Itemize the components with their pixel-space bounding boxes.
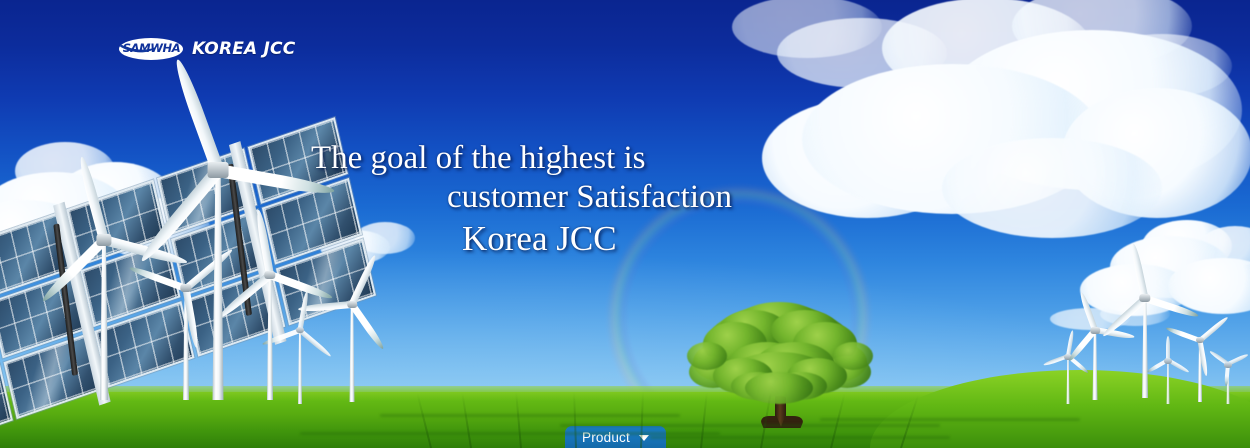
brand-name: KOREA JCC	[192, 39, 295, 59]
tree-canopy-cluster	[833, 342, 873, 370]
turbine-nacelle	[1139, 294, 1150, 302]
oak-tree	[697, 300, 862, 428]
field-streak	[380, 414, 680, 417]
turbine-blade	[1144, 295, 1199, 319]
turbine-tower	[350, 304, 355, 402]
wind-turbine	[100, 170, 336, 400]
turbine-tower	[213, 170, 224, 400]
turbine-blade	[1101, 295, 1147, 338]
brand-logo[interactable]: SAMWHA KOREA JCC	[119, 38, 295, 60]
logo-wordmark: SAMWHA	[122, 43, 180, 55]
samwha-ellipse-logo: SAMWHA	[119, 38, 183, 60]
turbine-tower	[1142, 298, 1148, 398]
field-streak	[820, 418, 1080, 421]
field-streak	[650, 436, 950, 439]
turbine-nacelle	[208, 162, 229, 177]
tree-canopy-cluster	[687, 342, 727, 370]
field-streak	[300, 432, 720, 435]
tree-canopy-cluster	[745, 372, 813, 404]
wind-turbine	[1089, 298, 1201, 398]
turbine-blade	[349, 302, 386, 350]
field-streak	[560, 424, 940, 427]
hero-banner: SAMWHA KOREA JCC The goal of the highest…	[0, 0, 1250, 448]
turbine-blade	[40, 236, 108, 304]
turbine-blade	[137, 166, 223, 265]
turbine-nacelle	[347, 301, 357, 308]
